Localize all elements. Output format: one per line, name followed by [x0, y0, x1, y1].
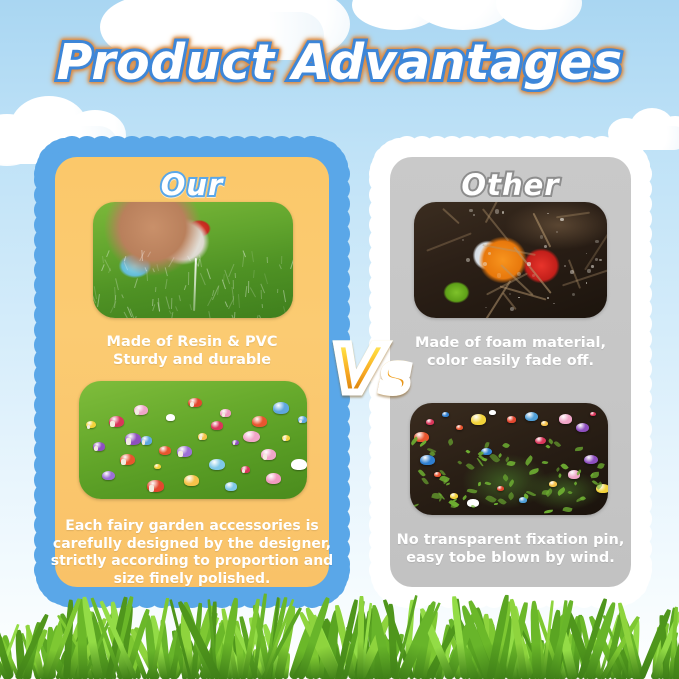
caption-our-material-line1: Made of Resin & PVC: [46, 333, 338, 351]
photo-our-miniature-collection: [79, 381, 307, 499]
caption-other-pin: No transparent fixation pin, easy tobe b…: [381, 531, 640, 568]
caption-other-pin-line1: No transparent fixation pin,: [381, 531, 640, 549]
vs-letter-s: s: [381, 346, 409, 404]
photo-other-soil-miniatures: [410, 403, 608, 515]
caption-our-material-line2: Sturdy and durable: [46, 351, 338, 369]
page-title: Product Advantages: [0, 34, 679, 91]
caption-our-design: Each fairy garden accessories is careful…: [46, 518, 338, 589]
vs-letter-v: V: [332, 331, 381, 408]
caption-other-pin-line2: easy tobe blown by wind.: [381, 549, 640, 567]
photo-other-foam-mushroom: [414, 202, 607, 318]
caption-our-design-line2: carefully designed by the designer,: [46, 536, 338, 554]
vs-label: Vs: [332, 337, 409, 403]
panel-our: Our Made of Resin & PVC Sturdy and durab…: [46, 148, 338, 596]
photo-our-resin-pin: [93, 202, 293, 318]
infographic-canvas: Product Advantages Our Made of Resin & P…: [0, 0, 679, 679]
vs-badge: Vs: [318, 322, 422, 418]
panel-other-heading: Other: [381, 168, 640, 202]
caption-our-design-line3: strictly according to proportion and: [46, 553, 338, 571]
caption-our-design-line1: Each fairy garden accessories is: [46, 518, 338, 536]
caption-our-material: Made of Resin & PVC Sturdy and durable: [46, 333, 338, 370]
grass-strip: [0, 583, 679, 679]
panel-our-heading: Our: [46, 168, 338, 202]
